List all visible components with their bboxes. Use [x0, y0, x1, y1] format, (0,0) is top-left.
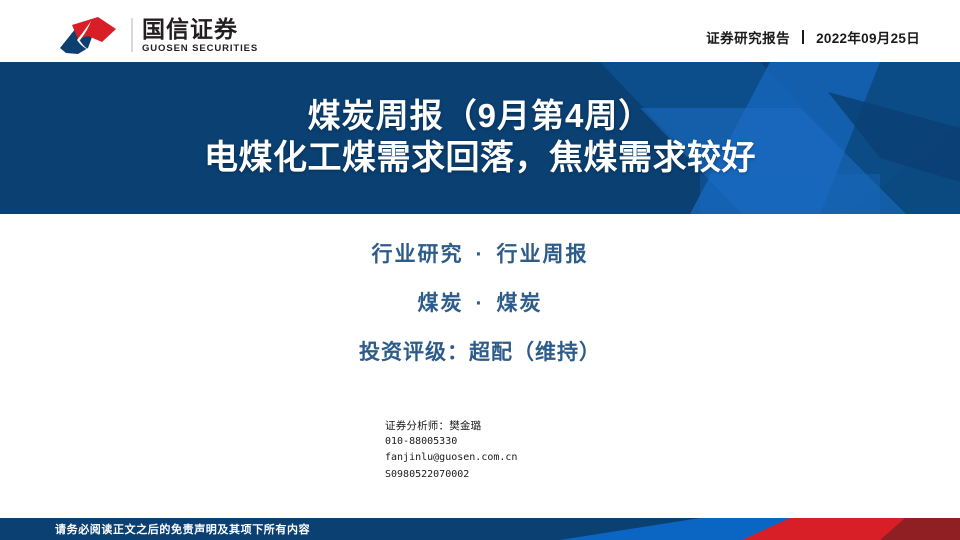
- logo-chinese-name: 国信证券: [142, 17, 258, 42]
- meta-dot-1: ·: [476, 243, 485, 267]
- report-type-label: 证券研究报告: [706, 27, 790, 47]
- analyst-phone: 010-88005330: [385, 434, 685, 450]
- research-category-label: 行业研究: [372, 243, 464, 266]
- footer-disclaimer: 请务必阅读正文之后的免责声明及其项下所有内容: [55, 518, 310, 540]
- header-separator: [802, 30, 804, 44]
- report-title-line-2: 电煤化工煤需求回落，焦煤需求较好: [204, 138, 756, 178]
- banner-title-group: 煤炭周报（9月第4周） 电煤化工煤需求回落，焦煤需求较好: [0, 62, 960, 214]
- sector-label: 煤炭: [418, 292, 464, 315]
- logo-wordmark: 国信证券 GUOSEN SECURITIES: [142, 16, 258, 54]
- report-title-line-1: 煤炭周报（9月第4周）: [308, 97, 653, 136]
- analyst-contact-block: 证券分析师：樊金璐 010-88005330 fanjinlu@guosen.c…: [385, 418, 685, 483]
- sub-sector-label: 煤炭: [497, 292, 543, 315]
- title-banner: 煤炭周报（9月第4周） 电煤化工煤需求回落，焦煤需求较好: [0, 62, 960, 214]
- logo-english-name: GUOSEN SECURITIES: [142, 44, 258, 54]
- analyst-email[interactable]: fanjinlu@guosen.com.cn: [385, 450, 685, 466]
- header-meta: 证券研究报告 2022年09月25日: [706, 27, 920, 47]
- meta-dot-2: ·: [476, 292, 485, 316]
- report-date: 2022年09月25日: [816, 27, 920, 47]
- industry-research-line: 行业研究·行业周报: [372, 238, 589, 268]
- guosen-logo-mark-icon: [58, 15, 120, 55]
- page-header: 国信证券 GUOSEN SECURITIES 证券研究报告 2022年09月25…: [0, 0, 960, 62]
- sector-line: 煤炭·煤炭: [418, 287, 543, 317]
- research-subtype-label: 行业周报: [497, 243, 589, 266]
- report-meta-block: 行业研究·行业周报 煤炭·煤炭 投资评级：超配（维持）: [0, 238, 960, 366]
- page-footer: 请务必阅读正文之后的免责声明及其项下所有内容: [0, 518, 960, 540]
- analyst-name: 证券分析师：樊金璐: [385, 418, 685, 434]
- investment-rating-line: 投资评级：超配（维持）: [359, 336, 601, 366]
- logo-divider: [131, 18, 133, 52]
- analyst-license-number: S0980522070002: [385, 467, 685, 483]
- brand-logo: 国信证券 GUOSEN SECURITIES: [58, 14, 258, 56]
